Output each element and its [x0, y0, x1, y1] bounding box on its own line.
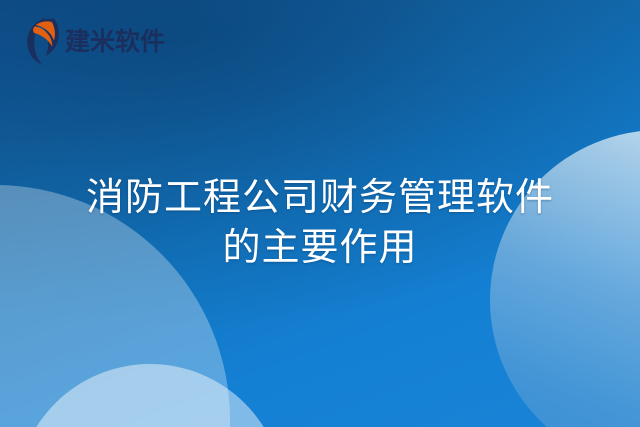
slide-canvas: 建米软件 消防工程公司财务管理软件 的主要作用	[0, 0, 640, 427]
page-title-line-2: 的主要作用	[0, 222, 640, 272]
brand-logo: 建米软件	[24, 16, 165, 66]
brand-name-text: 建米软件	[65, 29, 165, 54]
page-title-line-1: 消防工程公司财务管理软件	[0, 172, 640, 222]
page-title: 消防工程公司财务管理软件 的主要作用	[0, 172, 640, 272]
jianmi-leaf-logo-icon	[24, 16, 60, 66]
